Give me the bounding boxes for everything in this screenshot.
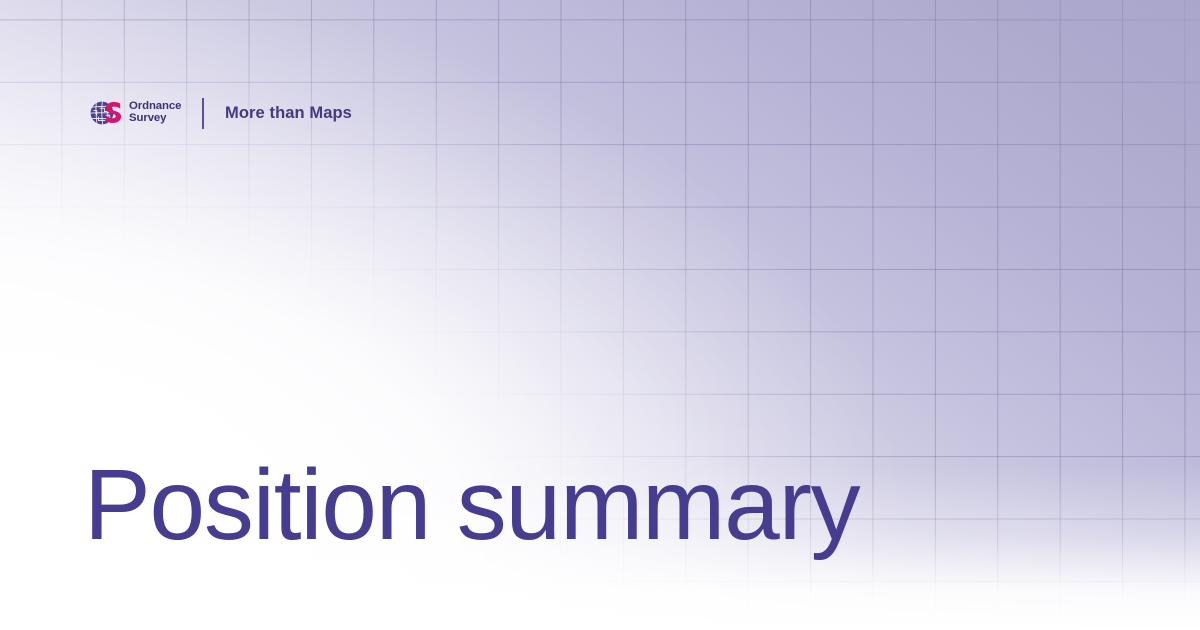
brand-lockup: Ordnance Survey More than Maps [88, 93, 352, 133]
banner-card: Ordnance Survey More than Maps Position … [0, 0, 1200, 630]
ordnance-survey-wordmark: Ordnance Survey [129, 101, 181, 124]
logo-divider [202, 98, 204, 129]
page-title: Position summary [84, 452, 859, 558]
ordnance-survey-globe-s-icon [88, 98, 124, 128]
brand-tagline: More than Maps [225, 104, 352, 123]
ordnance-survey-logo[interactable]: Ordnance Survey [88, 98, 181, 128]
wordmark-line-2: Survey [129, 113, 181, 125]
